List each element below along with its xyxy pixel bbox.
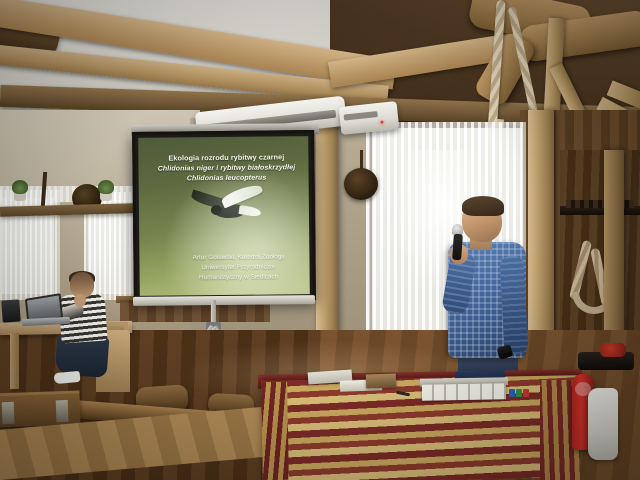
presentation-slide: Ekologia rozrodu rybitwy czarnej Chlidon…	[138, 136, 310, 296]
second-device	[1, 299, 20, 322]
projection-screen: Ekologia rozrodu rybitwy czarnej Chlidon…	[132, 130, 316, 302]
seated-laptop-operator	[52, 272, 114, 384]
standing-presenter	[440, 196, 536, 386]
side-table-leg-1	[10, 333, 19, 389]
operator-shoe	[54, 371, 81, 384]
book-brown	[366, 373, 396, 388]
presenter-arm-right	[499, 255, 528, 354]
trunk-strap-1	[2, 402, 15, 424]
photo-scene: Ekologia rozrodu rybitwy czarnej Chlidon…	[0, 0, 640, 480]
marker-blue	[509, 389, 515, 397]
marker-red	[523, 389, 529, 397]
plant-2	[98, 180, 114, 194]
tablecloth-left-drape	[261, 382, 289, 480]
trunk-strap-2	[56, 400, 69, 422]
operator-hand	[74, 294, 86, 307]
presenter-hair	[462, 196, 504, 216]
air-conditioner-small-vent	[344, 111, 378, 121]
wicker-ball-icon	[344, 168, 378, 200]
projection-screen-bottom-bar	[133, 295, 315, 306]
foreground-table-cloth	[261, 375, 579, 480]
white-boxes-row	[422, 383, 506, 400]
slide-glare	[138, 136, 310, 296]
white-bag	[588, 388, 618, 460]
red-object-right	[600, 343, 626, 357]
microphone-body	[452, 234, 463, 261]
air-conditioner-led-icon	[380, 121, 383, 124]
plant-1	[12, 180, 28, 194]
marker-green	[516, 389, 522, 397]
vintage-trunk	[0, 391, 81, 428]
